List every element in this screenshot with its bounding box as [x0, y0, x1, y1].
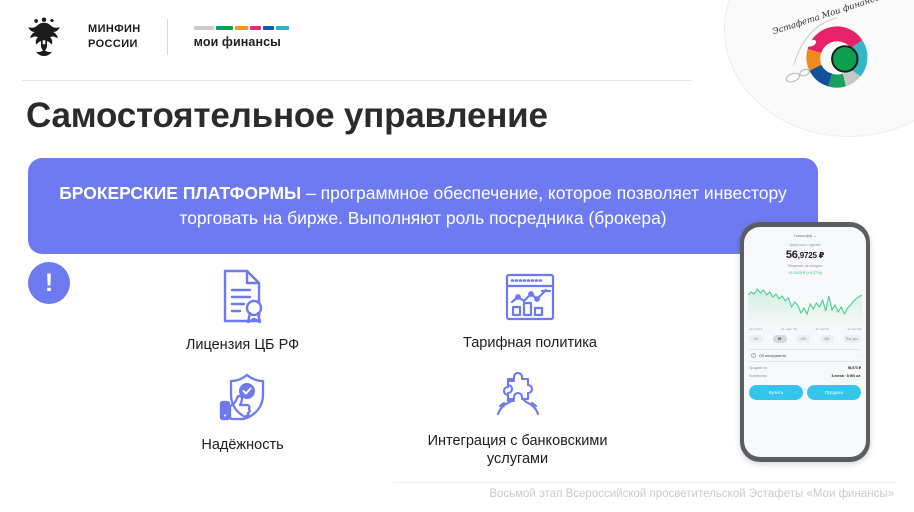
- slide-root: МИНФИН РОССИИ мои финансы Эстафета Мои ф…: [0, 0, 914, 512]
- feature-label: Тарифная политика: [463, 334, 597, 352]
- footer-caption: Восьмой этап Всероссийской просветительс…: [489, 488, 894, 500]
- sell-price-value: 56,975 ₽: [848, 366, 861, 370]
- chart-date-axis: 12 апр'1621 март'1631 янв'1612 апр'16: [744, 324, 866, 331]
- brand-bar-0: [194, 26, 214, 30]
- ministry-line-2: РОССИИ: [88, 37, 141, 52]
- price-integer: 56: [786, 249, 798, 261]
- feature-label: Интеграция с банковскими услугами: [395, 432, 640, 468]
- price-value: 56,9725 ₽: [744, 249, 866, 261]
- ministry-name: МИНФИН РОССИИ: [88, 22, 141, 52]
- period-selector[interactable]: 3090180365Все дни: [744, 331, 866, 343]
- brand-bar-4: [263, 26, 274, 30]
- buy-button[interactable]: Купить: [749, 385, 803, 400]
- brand-bar-1: [216, 26, 233, 30]
- quantity-label: Количество: [749, 374, 767, 378]
- instrument-label: Об инструменте: [759, 354, 786, 358]
- period-option-365[interactable]: 365: [820, 335, 834, 343]
- period-option-180[interactable]: 180: [796, 335, 810, 343]
- brand-bar-2: [235, 26, 248, 30]
- quantity-value: 8 лотов · 8 000 шт.: [832, 374, 861, 378]
- price-fraction: ,9725 ₽: [798, 251, 824, 260]
- delta-value: +0,1525 ₽ (+0,27%): [744, 270, 866, 275]
- ticker-selector[interactable]: Тинькофф ⌄: [744, 227, 866, 238]
- russian-double-headed-eagle-emblem-icon: [22, 14, 66, 60]
- price-caption: Цена посл. сделки: [744, 243, 866, 247]
- ministry-line-1: МИНФИН: [88, 22, 141, 37]
- exclamation-icon: !: [45, 271, 53, 296]
- chevron-right-icon: ›: [858, 353, 859, 358]
- moi-finansy-logo: мои финансы: [194, 26, 289, 49]
- header: МИНФИН РОССИИ мои финансы: [22, 14, 289, 60]
- estafeta-logo: Эстафета Мои финансы: [774, 6, 896, 104]
- footer-rule: [393, 482, 897, 483]
- instrument-row[interactable]: i Об инструменте ›: [749, 349, 861, 362]
- shield-check-thumbs-up-icon: [217, 372, 269, 429]
- chevron-down-icon: ⌄: [813, 233, 816, 238]
- chart-date-label: 12 апр'16: [848, 327, 861, 331]
- header-divider: [167, 19, 168, 55]
- brand-bar-5: [276, 26, 289, 30]
- period-option-30[interactable]: 30: [749, 335, 763, 343]
- exclamation-badge: !: [28, 262, 70, 304]
- chart-date-label: 21 март'16: [781, 327, 796, 331]
- brand-name: мои финансы: [194, 35, 289, 49]
- period-option-Все дни[interactable]: Все дни: [843, 335, 861, 343]
- feature-integration: Интеграция с банковскими услугами: [395, 372, 640, 468]
- brand-color-bars: [194, 26, 289, 30]
- chart-date-label: 12 апр'16: [749, 327, 762, 331]
- feature-label: Надёжность: [201, 436, 283, 454]
- phone-mockup: Тинькофф ⌄ Цена посл. сделки 56,9725 ₽ Р…: [740, 222, 870, 462]
- sell-button[interactable]: Продать: [807, 385, 861, 400]
- feature-label: Лицензия ЦБ РФ: [186, 336, 299, 354]
- puzzle-pieces-hands-icon: [490, 372, 546, 425]
- phone-screen: Тинькофф ⌄ Цена посл. сделки 56,9725 ₽ Р…: [744, 227, 866, 457]
- sell-price-row: Продают по 56,975 ₽: [749, 366, 861, 370]
- definition-callout: БРОКЕРСКИЕ ПЛАТФОРМЫ – программное обесп…: [28, 158, 818, 254]
- quantity-row: Количество 8 лотов · 8 000 шт.: [749, 374, 861, 378]
- brand-bar-3: [250, 26, 261, 30]
- feature-tariff: Тарифная политика: [435, 272, 625, 352]
- trade-buttons: Купить Продать: [749, 385, 861, 400]
- chart-date-label: 31 янв'16: [815, 327, 828, 331]
- info-icon: i: [751, 353, 756, 358]
- callout-text: БРОКЕРСКИЕ ПЛАТФОРМЫ – программное обесп…: [54, 181, 792, 232]
- price-chart: [744, 281, 866, 324]
- period-option-90[interactable]: 90: [773, 335, 787, 343]
- analytics-chart-window-icon: [504, 272, 556, 327]
- header-rule: [22, 80, 692, 81]
- result-caption: Результат за сегодня: [744, 264, 866, 268]
- callout-term: БРОКЕРСКИЕ ПЛАТФОРМЫ: [59, 183, 301, 203]
- feature-license: Лицензия ЦБ РФ: [160, 268, 325, 354]
- sell-price-label: Продают по: [749, 366, 767, 370]
- certificate-document-icon: [217, 268, 269, 329]
- page-title: Самостоятельное управление: [26, 96, 548, 136]
- ticker-label: Тинькофф: [793, 233, 812, 238]
- feature-reliability: Надёжность: [165, 372, 320, 454]
